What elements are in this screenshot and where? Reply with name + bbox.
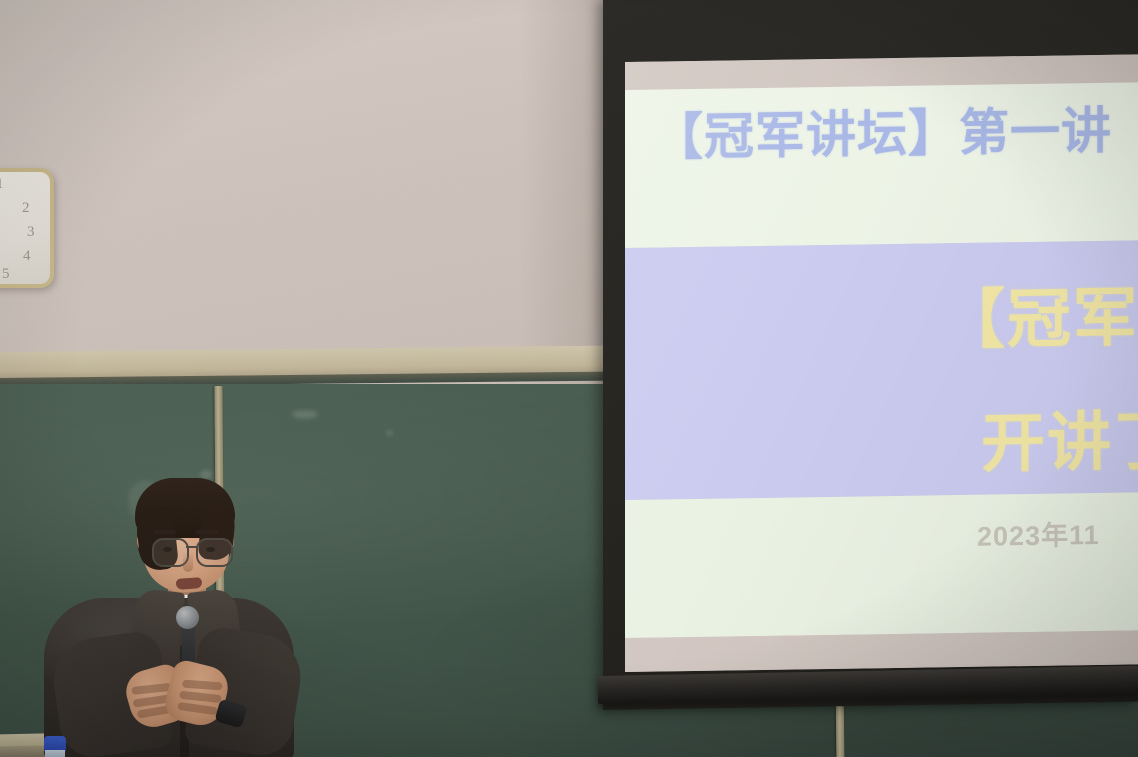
presenter-brow-right [196,530,218,534]
slide-date: 2023年11 [977,513,1100,554]
finger [179,691,222,703]
classroom-photo: 1 2 3 4 5 【冠军讲坛】第一讲 【冠军讲 开讲了 2023年11 [0,0,1138,757]
clock-numeral-4: 4 [23,248,31,265]
presenter-mouth [176,577,203,590]
clock-numeral-3: 3 [27,224,35,241]
presenter-eye-right [206,547,215,552]
clock-numeral-5: 5 [2,266,10,283]
presenter-nose [183,552,193,572]
presentation-slide: 【冠军讲坛】第一讲 【冠军讲 开讲了 2023年11 [625,54,1138,672]
clock-numeral-2: 2 [22,200,30,217]
projection-screen-surface: 【冠军讲坛】第一讲 【冠军讲 开讲了 2023年11 [625,54,1138,672]
water-bottle-body [45,750,65,757]
presenter-eye-left [163,547,172,552]
clock-numeral-1: 1 [0,176,4,193]
finger [177,702,218,715]
finger [131,683,172,695]
microphone-head [176,606,199,629]
slide-title: 【冠军讲坛】第一讲 [653,91,1112,170]
slide-headline: 【冠军讲 [941,265,1138,361]
wall-clock: 1 2 3 4 5 [0,168,54,288]
glasses-lens-right [196,538,233,567]
slide-headline-line2: 开讲了 [981,390,1138,485]
presenter-brow-left [154,530,176,534]
finger [182,680,222,691]
glasses-bridge [186,546,198,548]
presenter [0,430,360,757]
